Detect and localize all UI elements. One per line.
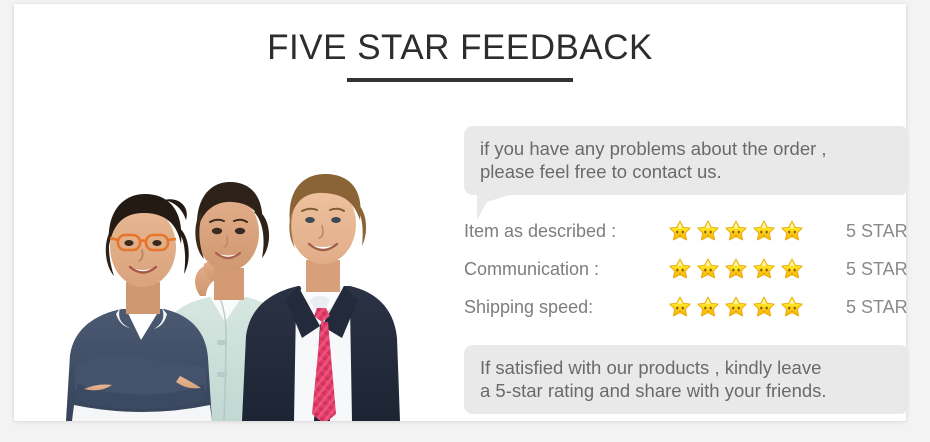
star-icon xyxy=(780,219,804,243)
table-row: Communication : 5 STAR xyxy=(450,250,908,288)
page-title: FIVE STAR FEEDBACK xyxy=(14,26,906,70)
rating-label-item-as-described: Item as described : xyxy=(450,221,668,242)
review-request-line-1: If satisfied with our products , kindly … xyxy=(480,356,895,379)
star-icon xyxy=(668,219,692,243)
table-row: Item as described : 5 STAR xyxy=(450,212,908,250)
rating-value-item-as-described: 5 STAR xyxy=(816,221,908,242)
contact-message-line-1: if you have any problems about the order… xyxy=(480,137,895,160)
star-icon xyxy=(780,295,804,319)
star-icon xyxy=(724,295,748,319)
feedback-banner: FIVE STAR FEEDBACK xyxy=(0,0,930,442)
star-rating-communication xyxy=(668,257,816,281)
star-icon xyxy=(696,295,720,319)
star-icon xyxy=(752,295,776,319)
table-row: Shipping speed: 5 STAR xyxy=(450,288,908,326)
content-card: FIVE STAR FEEDBACK xyxy=(14,4,906,421)
star-icon xyxy=(724,219,748,243)
rating-list: Item as described : 5 STAR Communication… xyxy=(450,212,908,326)
title-underline-rule xyxy=(347,78,573,82)
rating-label-communication: Communication : xyxy=(450,259,668,280)
star-icon xyxy=(752,219,776,243)
contact-message-bubble: if you have any problems about the order… xyxy=(464,126,909,195)
rating-value-shipping-speed: 5 STAR xyxy=(816,297,908,318)
feedback-panel: if you have any problems about the order… xyxy=(450,112,906,412)
rating-label-shipping-speed: Shipping speed: xyxy=(450,297,668,318)
star-icon xyxy=(724,257,748,281)
star-icon xyxy=(780,257,804,281)
header: FIVE STAR FEEDBACK xyxy=(14,26,906,82)
rating-value-communication: 5 STAR xyxy=(816,259,908,280)
star-icon xyxy=(752,257,776,281)
star-icon xyxy=(668,295,692,319)
star-icon xyxy=(696,219,720,243)
team-photo-illustration xyxy=(14,100,419,421)
star-icon xyxy=(668,257,692,281)
star-rating-shipping-speed xyxy=(668,295,816,319)
review-request-bubble: If satisfied with our products , kindly … xyxy=(464,345,909,414)
star-rating-item-as-described xyxy=(668,219,816,243)
team-photo xyxy=(14,100,419,421)
star-icon xyxy=(696,257,720,281)
contact-message-line-2: please feel free to contact us. xyxy=(480,160,895,183)
review-request-line-2: a 5-star rating and share with your frie… xyxy=(480,379,895,402)
